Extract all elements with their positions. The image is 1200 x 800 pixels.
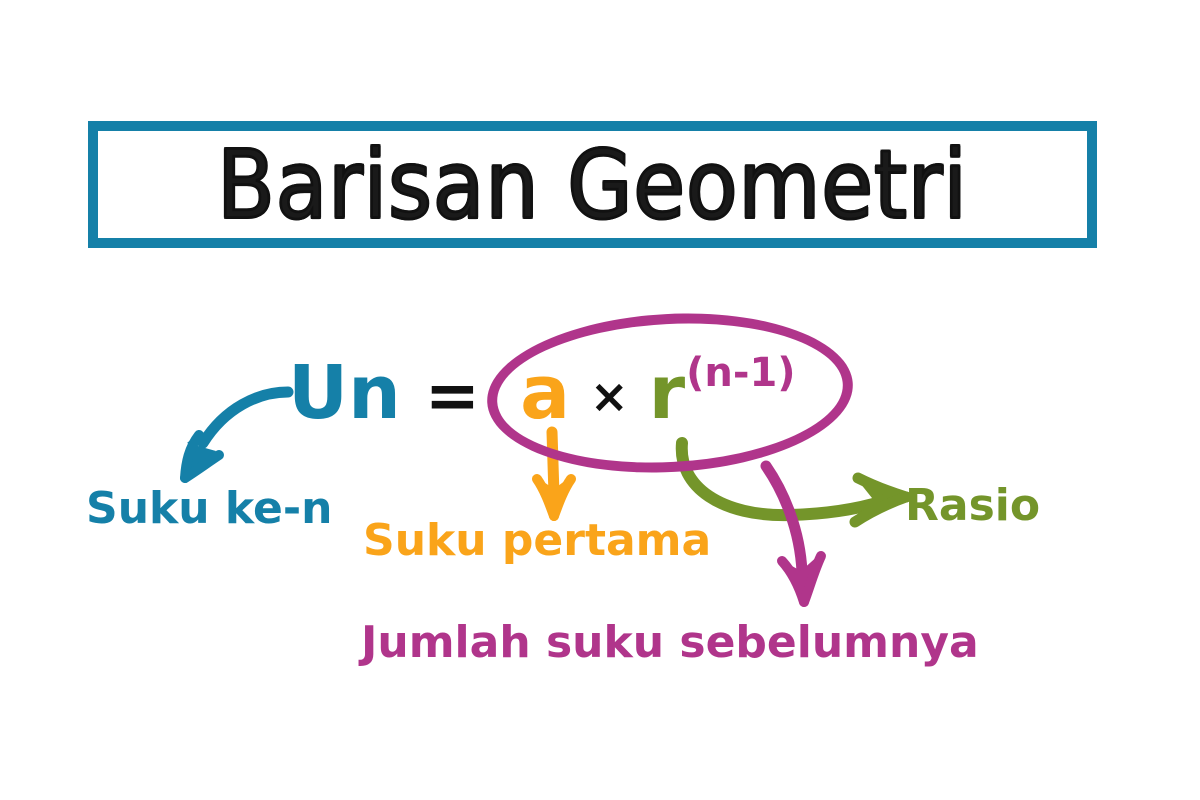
curved-down-arrow-icon-magenta	[766, 466, 821, 602]
curved-arrow-icon-blue	[185, 392, 288, 478]
formula-equals: =	[425, 353, 480, 439]
formula: Un = a × r (n-1)	[288, 350, 795, 436]
formula-lhs: Un	[288, 350, 401, 436]
annotation-label-jumlah-suku-sebelumnya: Jumlah suku sebelumnya	[361, 617, 979, 668]
page-title: Barisan Geometri	[98, 125, 1087, 245]
annotation-label-rasio: Rasio	[905, 480, 1040, 531]
annotation-label-suku-ke-n: Suku ke-n	[86, 483, 332, 534]
title-frame: Barisan Geometri	[88, 121, 1097, 248]
formula-first-term: a	[520, 350, 570, 436]
annotation-label-suku-pertama: Suku pertama	[363, 515, 711, 566]
formula-ratio: r	[649, 350, 686, 436]
slide-canvas: Barisan Geometri	[0, 0, 1200, 800]
formula-times: ×	[590, 353, 629, 439]
formula-exponent: (n-1)	[686, 330, 795, 416]
